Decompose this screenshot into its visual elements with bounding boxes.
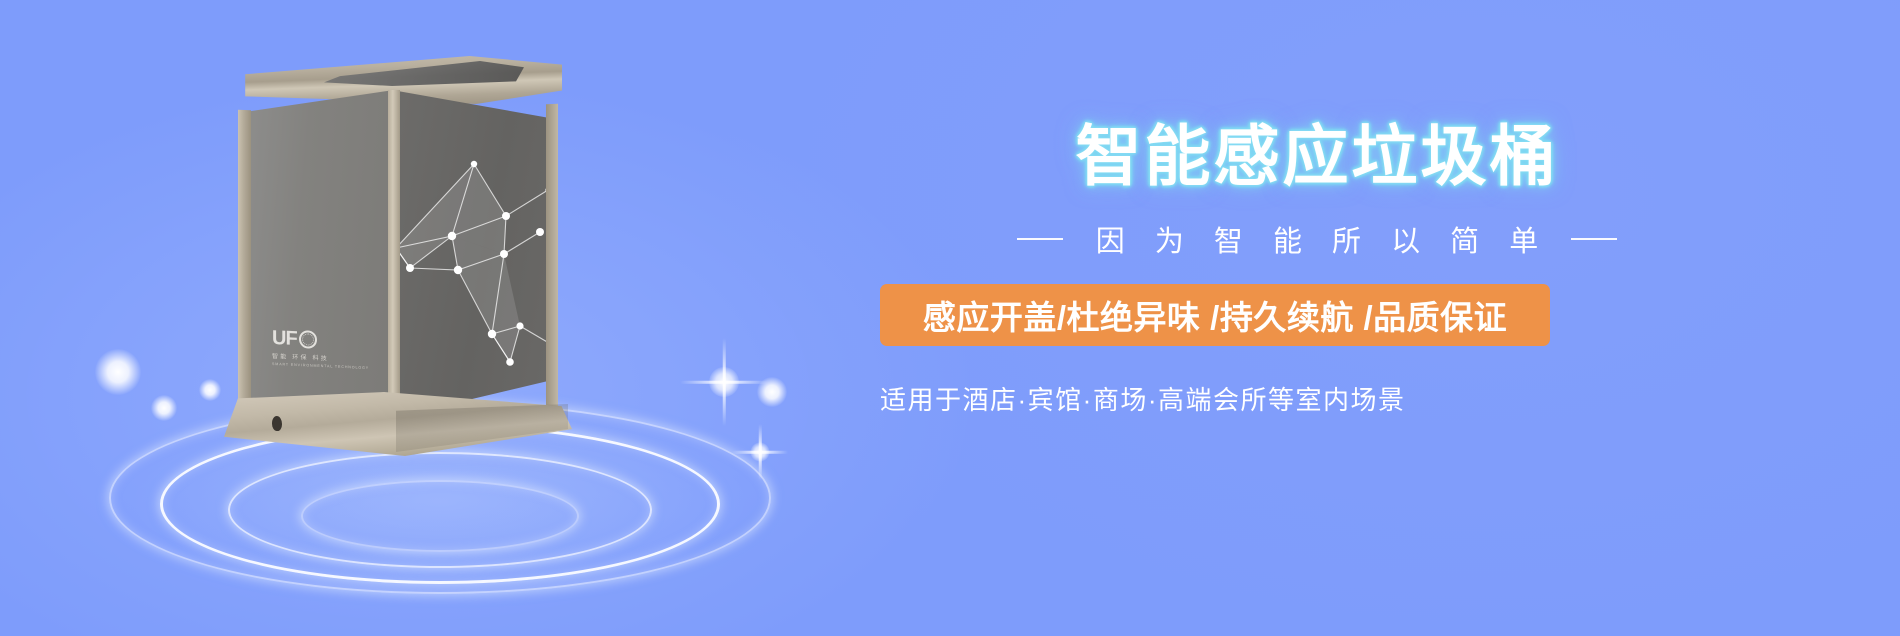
trash-can-edge-right	[546, 104, 558, 416]
brand-ring-icon	[299, 330, 317, 349]
headline-title: 智能感应垃圾桶	[880, 118, 1780, 196]
promo-banner: UF 智能 环保 科技 SMART ENVIRONMENTAL TECHNOLO…	[0, 0, 1900, 636]
ripple-ring-inner	[301, 480, 579, 552]
ufo-brand-logo: UF 智能 环保 科技 SMART ENVIRONMENTAL TECHNOLO…	[272, 328, 368, 370]
trash-can-base-shadow	[396, 404, 568, 452]
sparkle-dot-3	[199, 379, 221, 401]
rule-left-decoration	[1017, 238, 1063, 240]
subheadline-text: 因 为 智 能 所 以 简 单	[1085, 218, 1549, 260]
sparkle-dot-1	[95, 349, 141, 395]
rule-right-decoration	[1571, 238, 1617, 240]
sparkle-dot-2	[151, 395, 177, 421]
subheadline-row: 因 为 智 能 所 以 简 单	[880, 218, 1780, 260]
sparkle-star-1	[680, 338, 768, 426]
marketing-copy: 智能感应垃圾桶 因 为 智 能 所 以 简 单 感应开盖/杜绝异味 /持久续航 …	[880, 118, 1780, 417]
base-sensor-icon	[272, 416, 282, 432]
usage-scenarios-text: 适用于酒店·宾馆·商场·高端会所等室内场景	[880, 380, 1780, 417]
trash-can-body: UF 智能 环保 科技 SMART ENVIRONMENTAL TECHNOLO…	[238, 90, 558, 440]
features-badge: 感应开盖/杜绝异味 /持久续航 /品质保证	[880, 284, 1550, 346]
product-stage: UF 智能 环保 科技 SMART ENVIRONMENTAL TECHNOLO…	[60, 0, 820, 636]
trash-can-edge-left	[238, 110, 251, 421]
trash-can-panel-left	[238, 90, 394, 418]
polygon-network-svg	[388, 120, 560, 420]
sparkle-dot-4	[757, 377, 787, 407]
polygon-network-graphic	[388, 120, 560, 420]
trash-can-product: UF 智能 环保 科技 SMART ENVIRONMENTAL TECHNOLO…	[238, 56, 558, 456]
trash-can-edge-corner	[388, 90, 400, 422]
brand-wordmark: UF	[272, 328, 297, 349]
features-badge-text: 感应开盖/杜绝异味 /持久续航 /品质保证	[923, 291, 1507, 339]
